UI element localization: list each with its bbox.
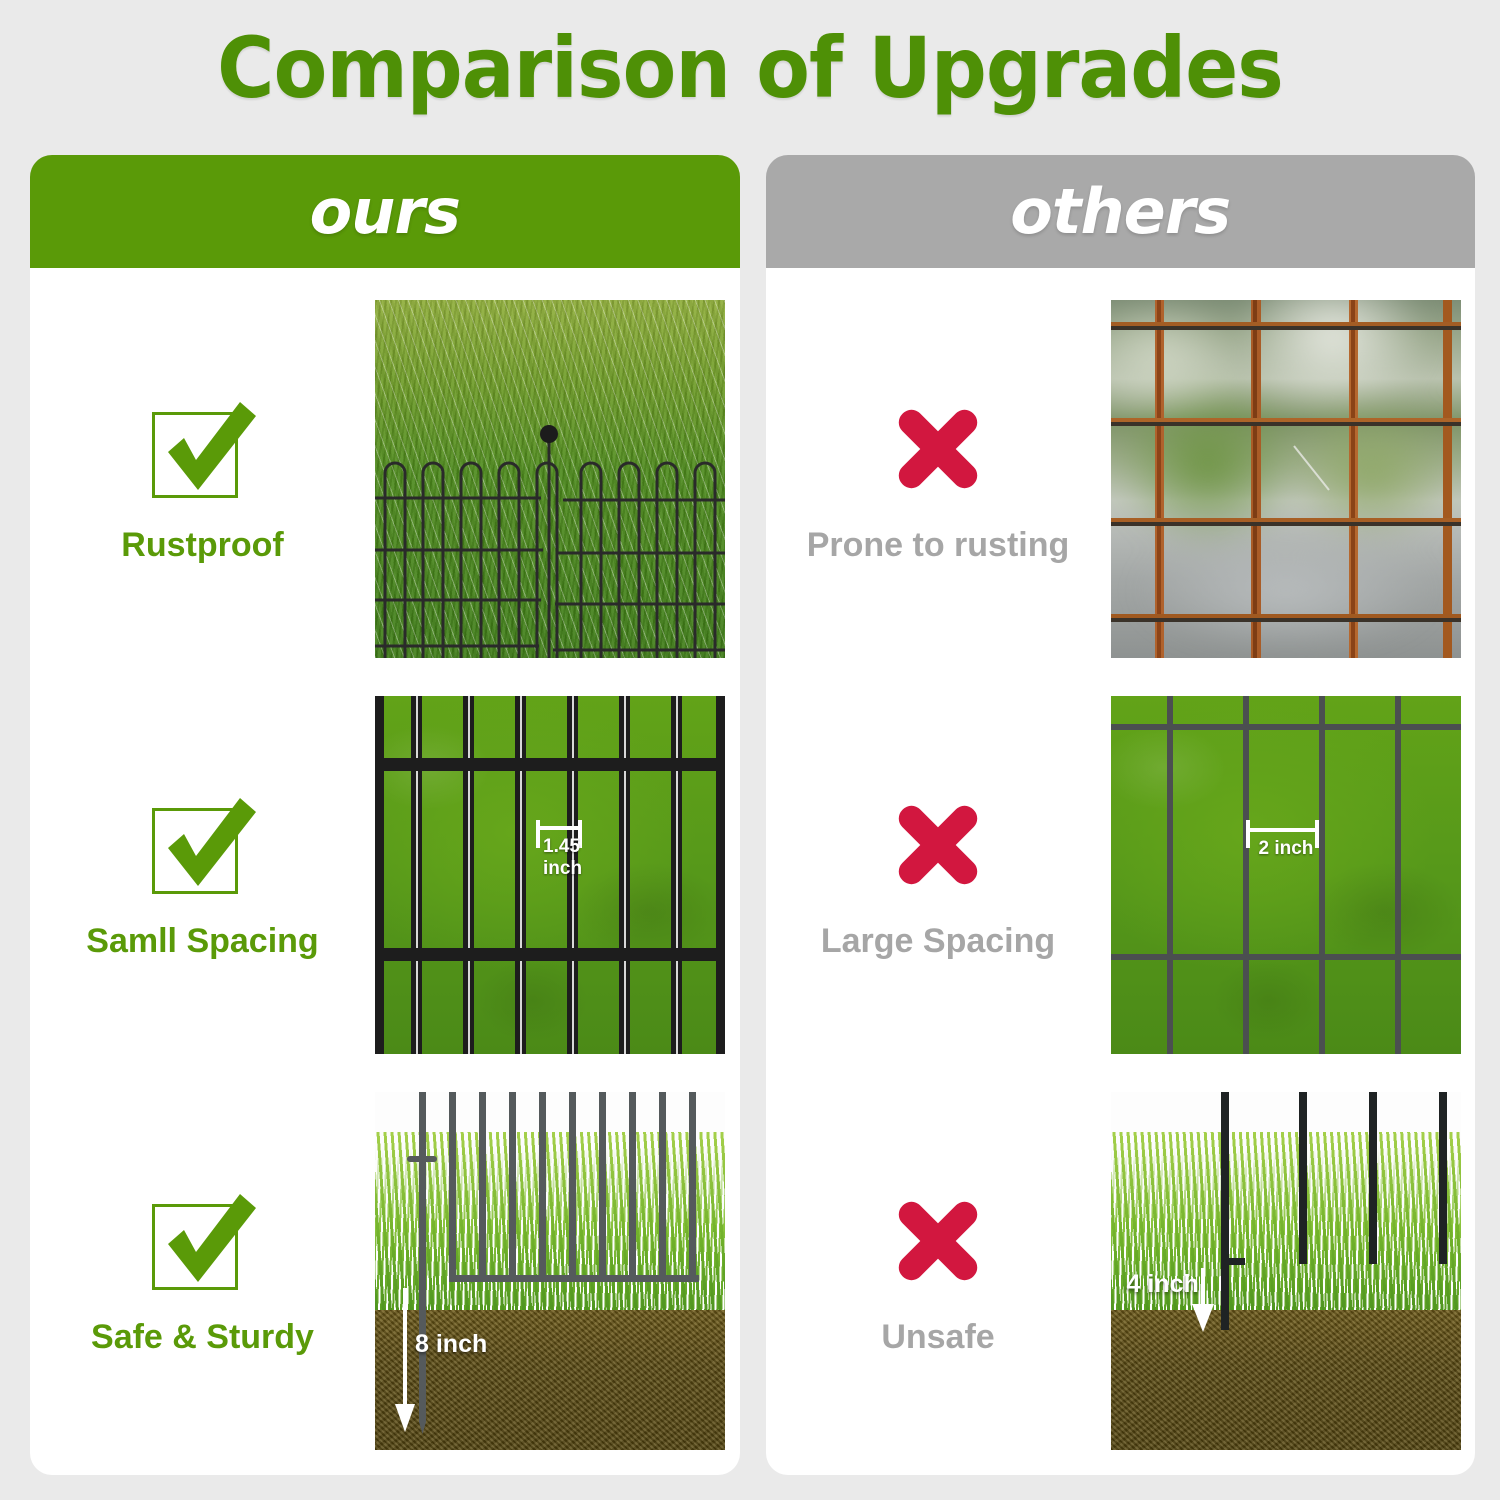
shallow-stake-ground-cross-section: 4 inch — [1111, 1092, 1461, 1450]
depth-arrow — [375, 1092, 725, 1450]
feature-side-large-spacing: Large Spacing — [766, 790, 1111, 961]
feature-side-prone-to-rusting: Prone to rusting — [766, 394, 1111, 565]
feature-label-large-spacing: Large Spacing — [821, 922, 1055, 961]
column-body-others: Prone to rusting — [766, 268, 1476, 1475]
feature-side-safe-sturdy: Safe & Sturdy — [30, 1186, 375, 1357]
feature-row-large-spacing: Large Spacing — [766, 682, 1476, 1068]
column-header-others: others — [766, 155, 1476, 268]
feature-row-prone-to-rusting: Prone to rusting — [766, 286, 1476, 672]
green-check-icon — [144, 1186, 262, 1296]
column-header-ours: ours — [30, 155, 740, 268]
rusty-wire-mesh-photo — [1111, 300, 1461, 658]
feature-label-prone-to-rusting: Prone to rusting — [807, 526, 1070, 565]
feature-label-rustproof: Rustproof — [121, 526, 283, 565]
wide-spacing-fence-photo: 2 inch — [1111, 696, 1461, 1054]
feature-label-small-spacing: Samll Spacing — [86, 922, 318, 961]
depth-dimension-label: 4 inch — [1127, 1270, 1199, 1299]
red-x-icon — [883, 790, 993, 900]
close-spacing-fence-photo: 1.45 inch — [375, 696, 725, 1054]
feature-row-safe-sturdy: Safe & Sturdy — [30, 1078, 740, 1464]
feature-side-rustproof: Rustproof — [30, 394, 375, 565]
deep-stake-ground-cross-section: 8 inch — [375, 1092, 725, 1450]
arched-fence-illustration — [375, 418, 725, 658]
fence-in-rain-photo — [375, 300, 725, 658]
green-check-icon — [144, 394, 262, 504]
fence-post-finial — [540, 425, 558, 443]
depth-dimension-label: 8 inch — [415, 1330, 487, 1359]
feature-row-rustproof: Rustproof — [30, 286, 740, 672]
rusty-grid-wires — [1111, 300, 1461, 658]
feature-row-small-spacing: Samll Spacing — [30, 682, 740, 1068]
column-others: others Prone to rusting — [766, 155, 1476, 1475]
feature-side-small-spacing: Samll Spacing — [30, 790, 375, 961]
spacing-dimension-label: 1.45 inch — [543, 836, 582, 880]
feature-row-unsafe: Unsafe — [766, 1078, 1476, 1464]
column-body-ours: Rustproof — [30, 268, 740, 1475]
column-ours: ours Rustproof — [30, 155, 740, 1475]
feature-label-unsafe: Unsafe — [881, 1318, 994, 1357]
red-x-icon — [883, 394, 993, 504]
feature-side-unsafe: Unsafe — [766, 1186, 1111, 1357]
spacing-dimension-label: 2 inch — [1259, 838, 1314, 860]
page-title: Comparison of Upgrades — [53, 26, 1448, 110]
red-x-icon — [883, 1186, 993, 1296]
comparison-columns: ours Rustproof — [30, 155, 1475, 1475]
feature-label-safe-sturdy: Safe & Sturdy — [91, 1318, 314, 1357]
green-check-icon — [144, 790, 262, 900]
spacing-measure-bracket — [1111, 696, 1461, 1054]
